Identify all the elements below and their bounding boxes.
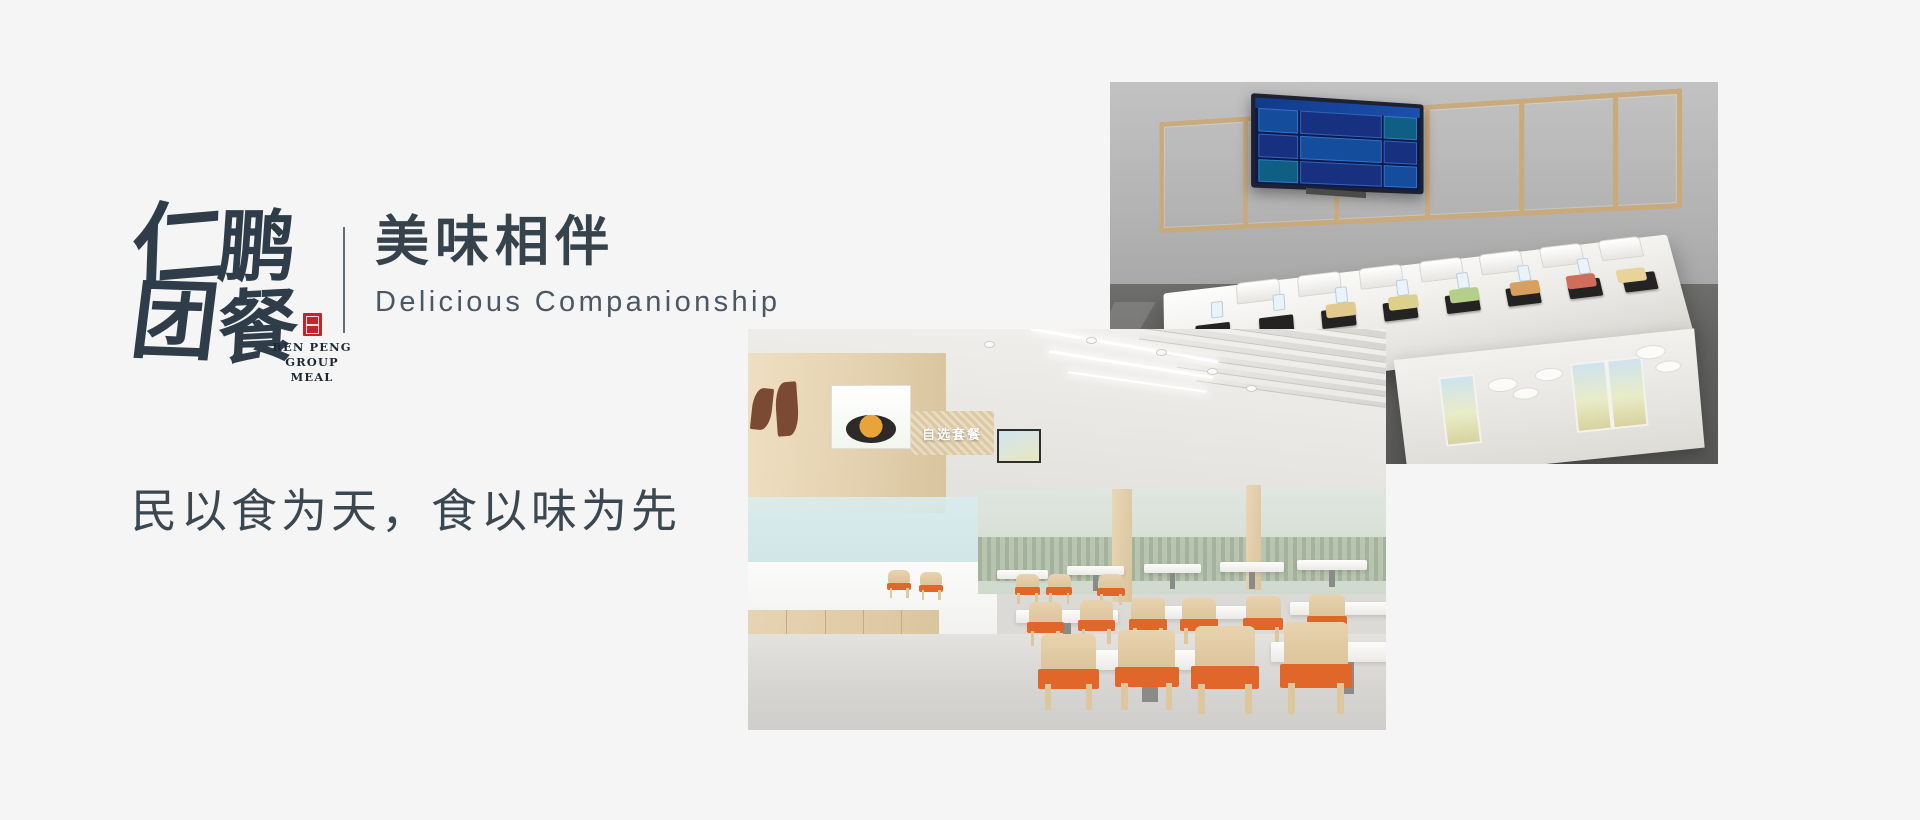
wall-mounted-tv (997, 429, 1042, 463)
noodle-bowl-graphic (846, 415, 896, 444)
romanized-line-2: GROUP (272, 355, 352, 370)
headline-sub: Delicious Companionship (375, 286, 780, 319)
red-seal-stamp-icon (303, 313, 322, 336)
dining-table (1220, 562, 1284, 572)
screen-dashboard-grid (1259, 108, 1417, 189)
hero-banner: 仁 鹏 团 餐 REN PENG GROUP MEAL 美味相伴 Delicio… (0, 0, 1920, 820)
dining-chair (888, 570, 910, 598)
brand-block: 仁 鹏 团 餐 REN PENG GROUP MEAL 美味相伴 Delicio… (130, 205, 780, 365)
seal-group: REN PENG GROUP MEAL (272, 313, 352, 385)
digital-menu-screen (1251, 93, 1423, 194)
dining-table (1297, 560, 1367, 570)
dining-table (1144, 564, 1201, 574)
logo-mark: 仁 鹏 团 餐 REN PENG GROUP MEAL (130, 205, 315, 365)
dining-chair (1016, 574, 1039, 604)
signboard-self-select-set-meal: 自选套餐 (911, 411, 994, 455)
romanized-line-3: MEAL (272, 370, 352, 385)
ceiling-downlight (1086, 337, 1097, 344)
dining-chair (1048, 574, 1071, 604)
dining-chair (1041, 634, 1095, 710)
headline-column: 美味相伴 Delicious Companionship (375, 205, 780, 319)
brand-divider (343, 227, 345, 333)
dining-chair (1195, 626, 1256, 714)
ceiling-downlight (984, 341, 995, 348)
logo-char-tuan: 团 (127, 278, 223, 367)
tagline: 民以食为天，食以味为先 (131, 475, 681, 541)
logo-char-peng: 鹏 (215, 209, 298, 287)
photo-cafeteria-interior: 自选套餐 (748, 329, 1386, 730)
serving-glass-partition (748, 497, 997, 565)
dining-chair (1284, 622, 1348, 714)
dining-chair (920, 572, 942, 600)
ceiling-downlight (1207, 368, 1218, 375)
dining-chair (1118, 630, 1175, 710)
menu-poster (831, 385, 911, 449)
headline-main: 美味相伴 (375, 213, 780, 270)
ceiling-downlight (1246, 385, 1257, 392)
romanized-line-1: REN PENG (272, 340, 352, 355)
